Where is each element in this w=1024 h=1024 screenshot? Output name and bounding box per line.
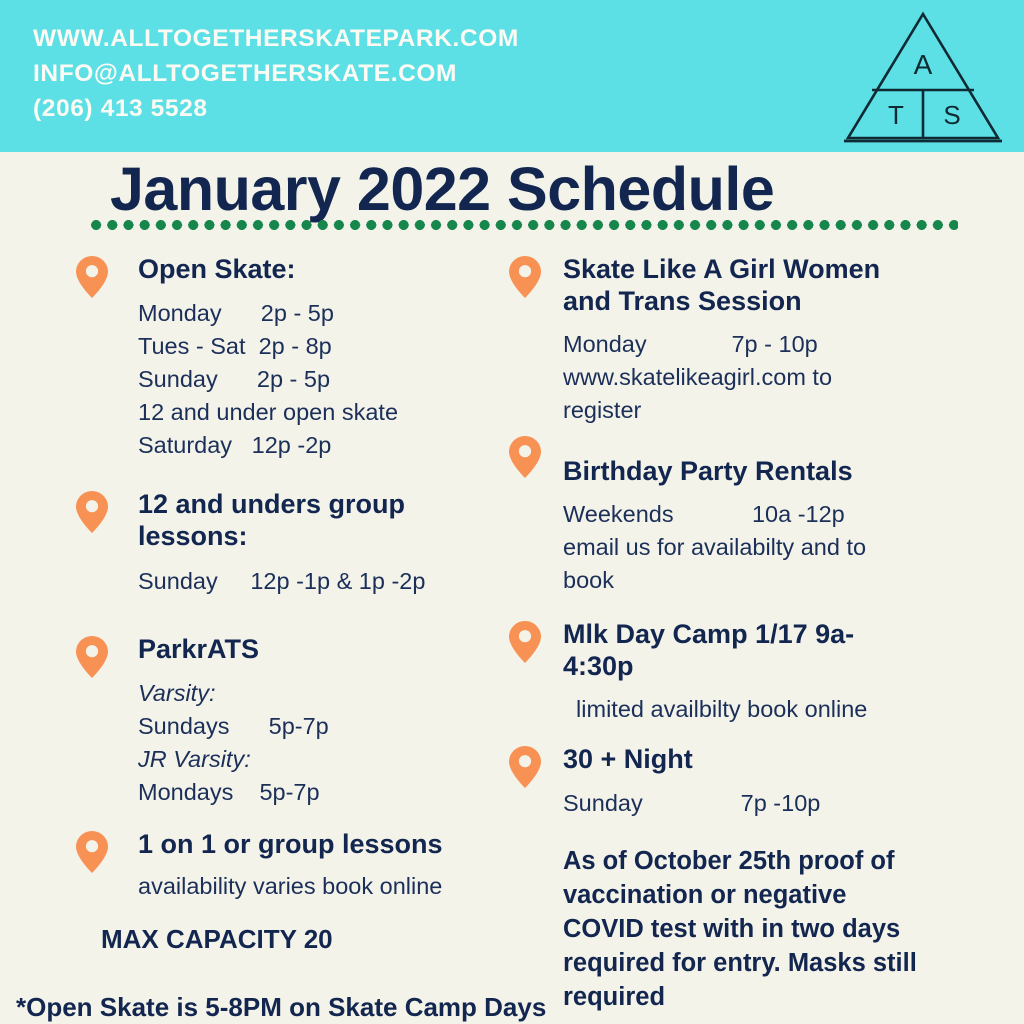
entry-lines: Monday 7p - 10p www.skatelikeagirl.com t…	[563, 328, 928, 427]
map-pin-icon	[508, 435, 542, 479]
map-pin-icon	[75, 490, 109, 534]
map-pin-icon	[75, 830, 109, 874]
entry-lines: Sunday 7p -10p	[563, 787, 928, 820]
entry-line: 12 and under open skate	[138, 396, 495, 429]
entry-heading: 30 + Night	[563, 743, 928, 775]
entry-line: limited availbilty book online	[563, 693, 938, 726]
entry-line: register	[563, 394, 928, 427]
map-pin-icon	[75, 255, 109, 299]
map-pin-svg	[75, 255, 109, 299]
entry-line: Sunday 2p - 5p	[138, 363, 495, 396]
map-pin-svg	[508, 435, 542, 479]
entry-lines: availability varies book online	[138, 870, 515, 903]
covid-notice: As of October 25th proof of vaccination …	[563, 844, 918, 1014]
max-capacity-note: MAX CAPACITY 20	[101, 922, 333, 956]
entry-line: email us for availabilty and to	[563, 531, 928, 564]
entry-line: Tues - Sat 2p - 8p	[138, 330, 495, 363]
map-pin-svg	[508, 745, 542, 789]
entry-heading: Skate Like A Girl Women and Trans Sessio…	[563, 253, 913, 317]
entry-heading: ParkrATS	[138, 633, 475, 665]
dotted-divider	[88, 220, 958, 230]
map-pin-icon	[75, 635, 109, 679]
entry-line: Monday 7p - 10p	[563, 328, 928, 361]
map-pin-svg	[508, 255, 542, 299]
entry-line: www.skatelikeagirl.com to	[563, 361, 928, 394]
entry-heading: Birthday Party Rentals	[563, 455, 928, 487]
map-pin-svg	[75, 830, 109, 874]
entry-heading: 1 on 1 or group lessons	[138, 828, 515, 860]
entry-lines: Varsity: Sundays 5p-7p JR Varsity: Monda…	[138, 677, 475, 809]
entry-line: Saturday 12p -2p	[138, 429, 495, 462]
website-text: WWW.ALLTOGETHERSKATEPARK.COM	[33, 21, 653, 56]
page-title: January 2022 Schedule	[110, 154, 774, 224]
entry-parkrats: ParkrATS Varsity: Sundays 5p-7p JR Varsi…	[75, 633, 475, 809]
right-column: Skate Like A Girl Women and Trans Sessio…	[500, 242, 1024, 1024]
ats-triangle-logo: A T S	[842, 8, 1004, 146]
entry-line: Weekends 10a -12p	[563, 498, 928, 531]
map-pin-svg	[508, 620, 542, 664]
entry-line: Sunday 12p -1p & 1p -2p	[138, 565, 475, 598]
logo-letter-t: T	[888, 100, 904, 130]
entry-lines: limited availbilty book online	[563, 693, 938, 726]
entry-line: JR Varsity:	[138, 743, 475, 776]
contact-info-block: WWW.ALLTOGETHERSKATEPARK.COM INFO@ALLTOG…	[33, 21, 653, 126]
entry-thirty-plus-night: 30 + Night Sunday 7p -10p	[508, 743, 928, 820]
map-pin-svg	[75, 635, 109, 679]
logo-letter-s: S	[943, 100, 960, 130]
entry-heading: 12 and unders group lessons:	[138, 488, 428, 552]
email-text: INFO@ALLTOGETHERSKATE.COM	[33, 56, 653, 91]
title-section: January 2022 Schedule	[0, 152, 1024, 242]
entry-one-on-one-or-group-lessons: 1 on 1 or group lessons availability var…	[75, 828, 515, 903]
left-column: Open Skate: Monday 2p - 5p Tues - Sat 2p…	[0, 242, 500, 1024]
entry-lines: Sunday 12p -1p & 1p -2p	[138, 565, 475, 598]
phone-text: (206) 413 5528	[33, 91, 653, 126]
entry-line: book	[563, 564, 928, 597]
map-pin-icon	[508, 745, 542, 789]
entry-line: Monday 2p - 5p	[138, 297, 495, 330]
entry-line: Mondays 5p-7p	[138, 776, 475, 809]
map-pin-icon	[508, 620, 542, 664]
entry-skate-like-a-girl-session: Skate Like A Girl Women and Trans Sessio…	[508, 253, 928, 427]
entry-heading: Mlk Day Camp 1/17 9a-4:30p	[563, 618, 903, 682]
entry-lines: Weekends 10a -12p email us for availabil…	[563, 498, 928, 597]
entry-birthday-party-rentals: Birthday Party Rentals Weekends 10a -12p…	[508, 433, 928, 597]
entry-mlk-day-camp: Mlk Day Camp 1/17 9a-4:30p limited avail…	[508, 618, 938, 726]
schedule-poster: WWW.ALLTOGETHERSKATEPARK.COM INFO@ALLTOG…	[0, 0, 1024, 1024]
entry-line: Varsity:	[138, 677, 475, 710]
entry-line: Sunday 7p -10p	[563, 787, 928, 820]
triangle-logo-svg: A T S	[842, 8, 1004, 146]
map-pin-icon	[508, 255, 542, 299]
map-pin-svg	[75, 490, 109, 534]
entry-line: Sundays 5p-7p	[138, 710, 475, 743]
entry-twelve-and-unders-group-lessons: 12 and unders group lessons: Sunday 12p …	[75, 488, 475, 598]
logo-letter-a: A	[914, 49, 933, 80]
entry-lines: Monday 2p - 5p Tues - Sat 2p - 8p Sunday…	[138, 297, 495, 462]
header-band: WWW.ALLTOGETHERSKATEPARK.COM INFO@ALLTOG…	[0, 0, 1024, 152]
open-skate-camp-note: *Open Skate is 5-8PM on Skate Camp Days	[16, 990, 546, 1024]
entry-heading: Open Skate:	[138, 253, 495, 285]
entry-open-skate: Open Skate: Monday 2p - 5p Tues - Sat 2p…	[75, 253, 495, 462]
entry-line: availability varies book online	[138, 870, 515, 903]
